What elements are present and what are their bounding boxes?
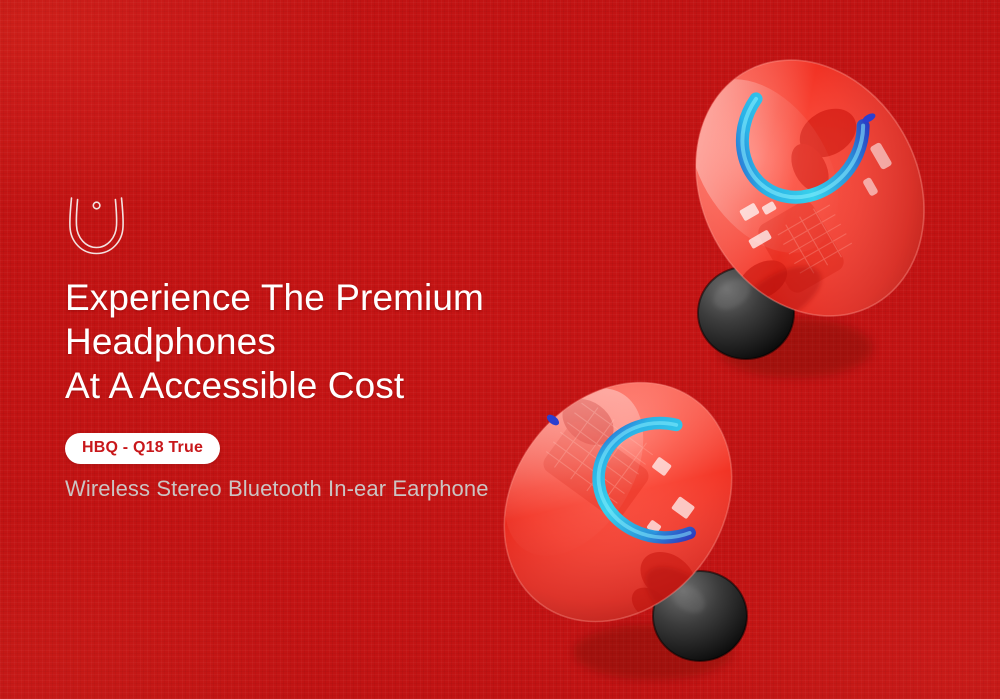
earbud-upper <box>660 28 960 388</box>
product-model-badge: HBQ - Q18 True <box>65 433 220 464</box>
copy-block: Experience The Premium Headphones At A A… <box>65 196 705 503</box>
badge-row: HBQ - Q18 True <box>65 433 705 464</box>
product-banner: Experience The Premium Headphones At A A… <box>0 0 1000 699</box>
page-title: Experience The Premium Headphones At A A… <box>65 276 705 408</box>
product-subtitle: Wireless Stereo Bluetooth In-ear Earphon… <box>65 475 705 503</box>
headphone-band-icon <box>65 196 131 258</box>
